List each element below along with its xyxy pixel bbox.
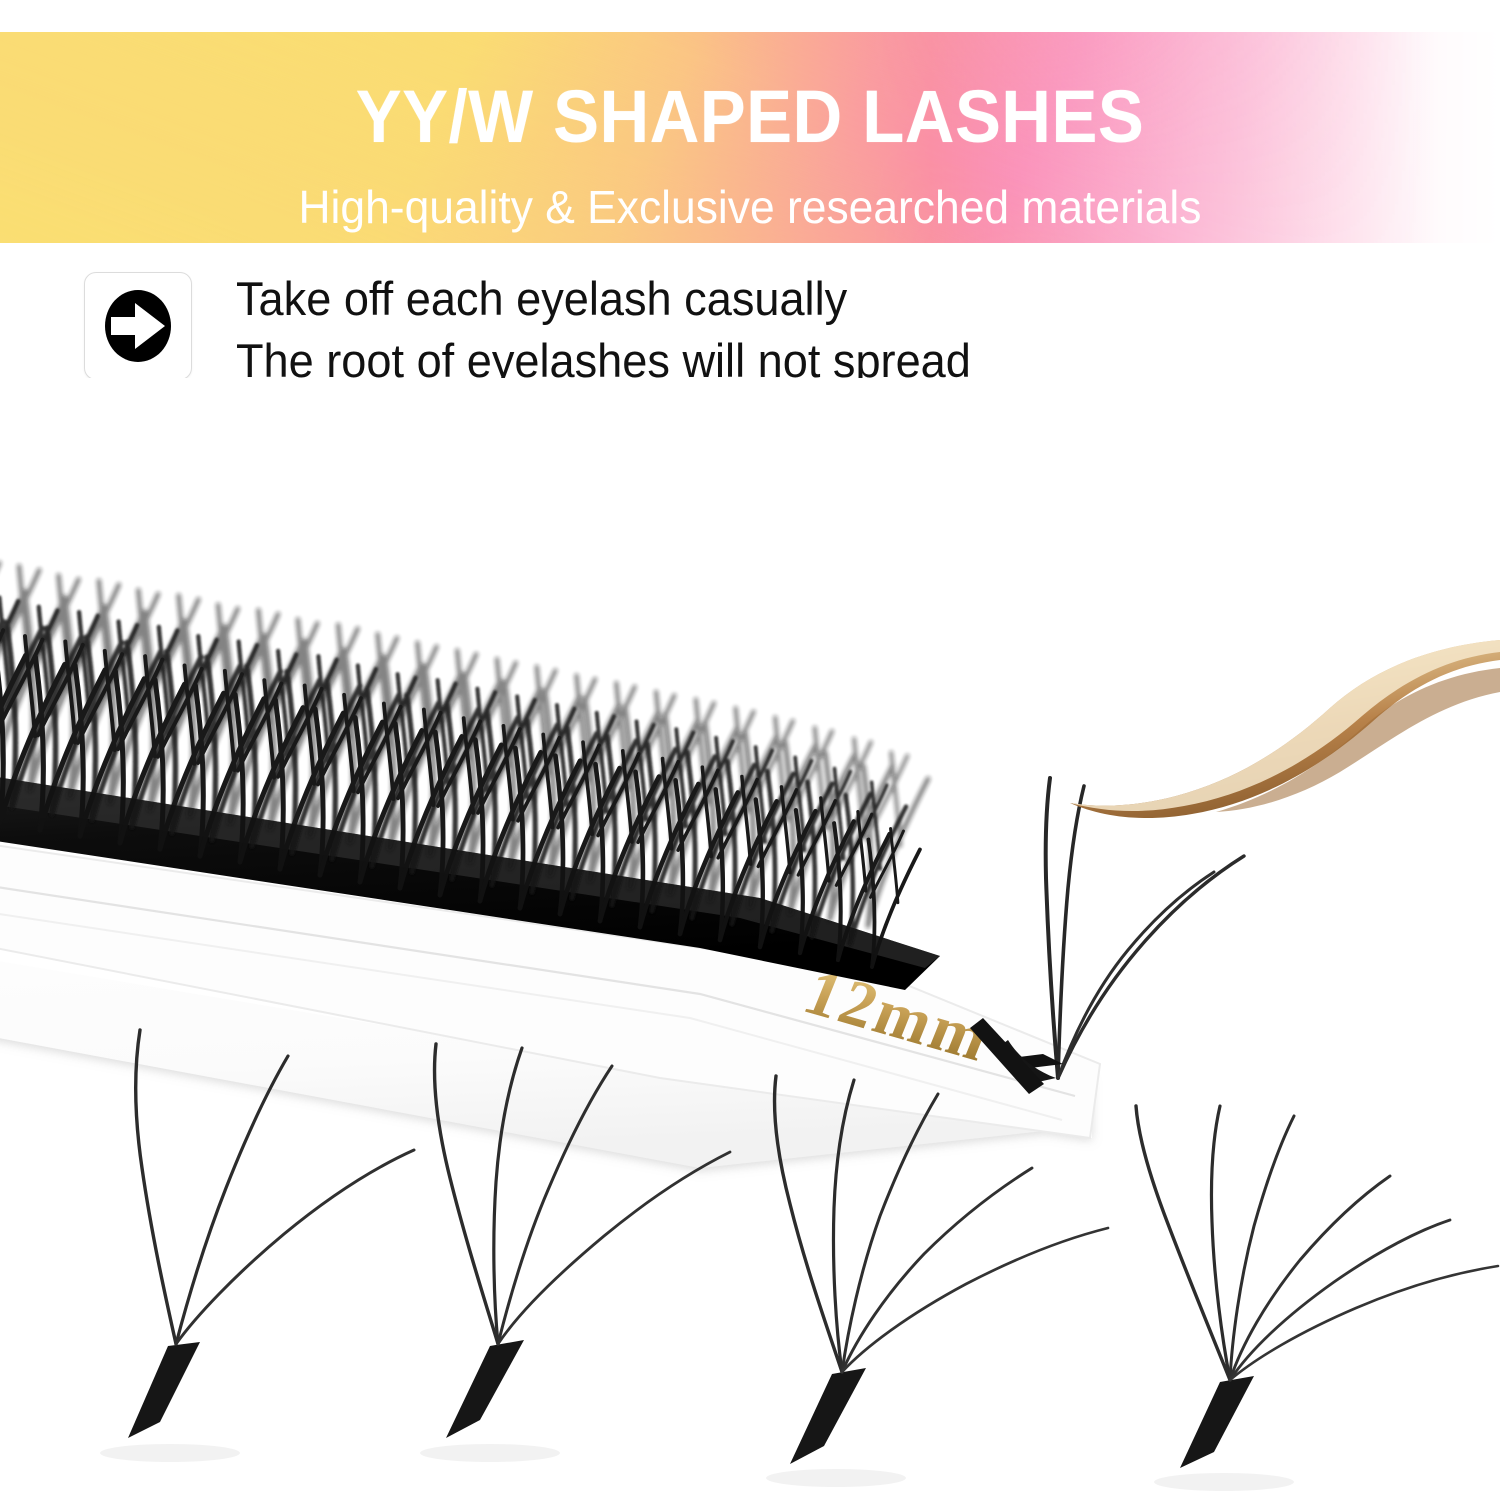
instruction-block: Take off each eyelash casually The root … xyxy=(84,270,1084,390)
product-photo: 12mm xyxy=(0,378,1500,1500)
arrow-right-circle-icon xyxy=(99,287,177,365)
instruction-icon-box xyxy=(84,272,192,380)
instruction-line-1: Take off each eyelash casually xyxy=(236,268,971,330)
page-title: YY/W SHAPED LASHES xyxy=(53,80,1448,154)
page-subtitle: High-quality & Exclusive researched mate… xyxy=(26,184,1474,230)
product-photo-illustration: 12mm xyxy=(0,378,1500,1500)
instruction-text: Take off each eyelash casually The root … xyxy=(236,268,971,392)
product-image-stage: YY/W SHAPED LASHES High-quality & Exclus… xyxy=(0,0,1500,1500)
header-banner: YY/W SHAPED LASHES High-quality & Exclus… xyxy=(0,32,1500,243)
